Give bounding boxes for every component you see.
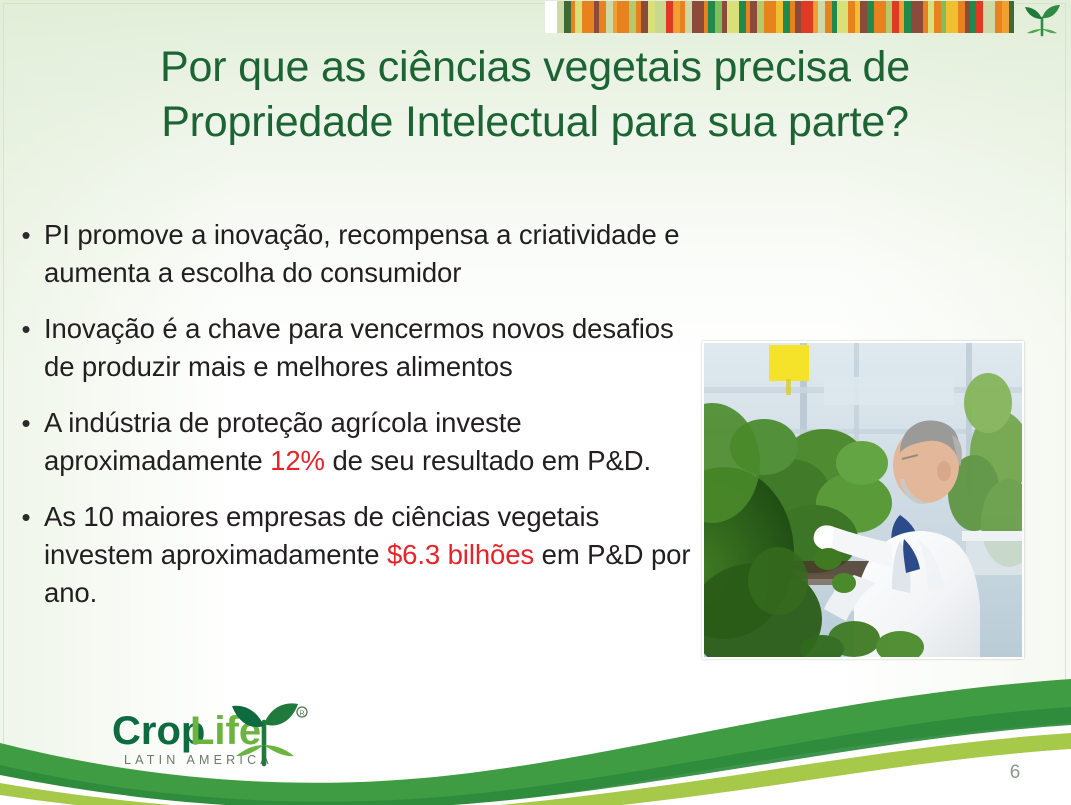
logo-tagline: LATIN AMERICA: [124, 753, 273, 767]
sprout-icon: [1019, 2, 1065, 38]
stripe-segment: [582, 1, 594, 33]
greenhouse-scientist-photo: [702, 341, 1024, 659]
bullet-innovation: PI promove a inovação, recompensa a cria…: [44, 216, 708, 292]
stripe-segment: [934, 1, 941, 33]
stripe-segment: [1009, 1, 1014, 33]
stripe-segment: [727, 1, 739, 33]
stripe-segment: [708, 1, 715, 33]
stripe-segment: [801, 1, 813, 33]
stripe-segment: [648, 1, 655, 33]
stripe-segment: [575, 1, 582, 33]
stripe-segment: [617, 1, 629, 33]
highlighted-figure: $6.3 bilhões: [387, 539, 534, 570]
stripe-segment: [673, 1, 680, 33]
stripe-segment: [655, 1, 667, 33]
stripe-segment: [739, 1, 746, 33]
bullet-challenges: Inovação é a chave para vencermos novos …: [44, 310, 708, 386]
bullet-item: •A indústria de proteção agrícola invest…: [8, 404, 708, 480]
stripe-segment: [776, 1, 783, 33]
stripe-segment: [606, 1, 613, 33]
stripe-segment: [750, 1, 757, 33]
stripe-segment: [860, 1, 867, 33]
bullet-marker: •: [8, 310, 44, 348]
slide-title-line-2: Propriedade Intelectual para sua parte?: [60, 95, 1010, 150]
stripe-segment: [970, 1, 977, 33]
stripe-segment: [641, 1, 648, 33]
bullet-marker: •: [8, 216, 44, 254]
stripe-segment: [886, 1, 893, 33]
stripe-segment: [564, 1, 571, 33]
stripe-segment: [867, 1, 874, 33]
stripe-segment: [666, 1, 673, 33]
stripe-segment: [874, 1, 886, 33]
slide-title: Por que as ciências vegetais precisa de …: [60, 40, 1010, 150]
stripe-segment: [995, 1, 1002, 33]
bullet-item: •PI promove a inovação, recompensa a cri…: [8, 216, 708, 292]
bullet-item: •As 10 maiores empresas de ciências vege…: [8, 498, 708, 612]
stripe-segment: [818, 1, 825, 33]
bullet-text-run: de seu resultado em P&D.: [325, 445, 651, 476]
slide-title-line-1: Por que as ciências vegetais precisa de: [60, 40, 1010, 95]
stripe-segment: [783, 1, 790, 33]
stripe-segment: [911, 1, 923, 33]
stripe-segment: [848, 1, 855, 33]
stripe-segment: [757, 1, 764, 33]
stripe-segment: [629, 1, 636, 33]
stripe-segment: [545, 1, 557, 33]
stripe-segment: [764, 1, 776, 33]
decorative-stripe-bar: [545, 1, 1014, 33]
stripe-segment: [983, 1, 995, 33]
stripe-segment: [825, 1, 832, 33]
stripe-segment: [1002, 1, 1009, 33]
bullet-text-run: Inovação é a chave para vencermos novos …: [44, 313, 674, 382]
stripe-segment: [946, 1, 958, 33]
stripe-segment: [837, 1, 849, 33]
stripe-segment: [715, 1, 722, 33]
bullet-top-ten-companies: As 10 maiores empresas de ciências veget…: [44, 498, 708, 612]
stripe-segment: [958, 1, 965, 33]
stripe-segment: [904, 1, 911, 33]
croplife-logo: Crop Life LATIN AMERICA R: [112, 700, 337, 778]
highlighted-figure: 12%: [270, 445, 325, 476]
bullet-crop-protection-investment: A indústria de proteção agrícola investe…: [44, 404, 708, 480]
bullet-list: •PI promove a inovação, recompensa a cri…: [8, 216, 708, 630]
presentation-slide: Por que as ciências vegetais precisa de …: [0, 0, 1071, 805]
stripe-segment: [692, 1, 704, 33]
bullet-marker: •: [8, 404, 44, 442]
bullet-marker: •: [8, 498, 44, 536]
page-number: 6: [1000, 762, 1030, 784]
stripe-segment: [928, 1, 935, 33]
stripe-segment: [976, 1, 983, 33]
bullet-text-run: PI promove a inovação, recompensa a cria…: [44, 219, 680, 288]
stripe-segment: [795, 1, 802, 33]
stripe-segment: [685, 1, 692, 33]
stripe-segment: [557, 1, 564, 33]
bullet-item: •Inovação é a chave para vencermos novos…: [8, 310, 708, 386]
stripe-segment: [599, 1, 606, 33]
logo-registered-mark: R: [299, 711, 304, 718]
stripe-segment: [892, 1, 899, 33]
